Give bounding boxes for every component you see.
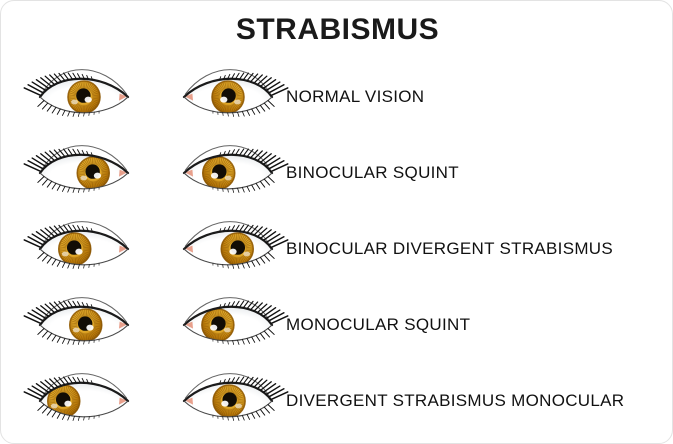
condition-label-normal-vision: NORMAL VISION	[286, 87, 424, 107]
eye-right-divergent-strabismus-monocular	[173, 371, 283, 431]
condition-label-divergent-strabismus-monocular: DIVERGENT STRABISMUS MONOCULAR	[286, 391, 624, 411]
eye-left-divergent-strabismus-monocular	[29, 371, 139, 431]
eye-illustration	[173, 67, 283, 127]
condition-row-normal-vision: NORMAL VISION	[1, 59, 673, 135]
page-title: STRABISMUS	[1, 13, 673, 47]
eye-illustration	[29, 143, 139, 203]
condition-list: NORMAL VISIONBINOCULAR SQUINTBINOCULAR D…	[1, 59, 673, 439]
condition-row-binocular-squint: BINOCULAR SQUINT	[1, 135, 673, 211]
eye-illustration	[173, 143, 283, 203]
condition-label-binocular-divergent-strabismus: BINOCULAR DIVERGENT STRABISMUS	[286, 239, 613, 259]
eye-pair-divergent-strabismus-monocular	[1, 363, 286, 439]
eye-right-binocular-divergent-strabismus	[173, 219, 283, 279]
eye-left-binocular-divergent-strabismus	[29, 219, 139, 279]
eye-illustration	[173, 295, 283, 355]
eye-pair-normal-vision	[1, 59, 286, 135]
eye-right-binocular-squint	[173, 143, 283, 203]
eye-pair-binocular-squint	[1, 135, 286, 211]
condition-row-binocular-divergent-strabismus: BINOCULAR DIVERGENT STRABISMUS	[1, 211, 673, 287]
eye-illustration	[173, 219, 283, 279]
eye-right-monocular-squint	[173, 295, 283, 355]
eye-right-normal-vision	[173, 67, 283, 127]
eye-pair-binocular-divergent-strabismus	[1, 211, 286, 287]
eye-illustration	[29, 295, 139, 355]
strabismus-infographic-card: STRABISMUS NORMAL VISIONBINOCULAR SQUINT…	[0, 0, 673, 444]
eye-illustration	[29, 219, 139, 279]
condition-label-binocular-squint: BINOCULAR SQUINT	[286, 163, 459, 183]
eye-illustration	[29, 67, 139, 127]
eye-left-binocular-squint	[29, 143, 139, 203]
condition-row-divergent-strabismus-monocular: DIVERGENT STRABISMUS MONOCULAR	[1, 363, 673, 439]
eye-illustration	[173, 371, 283, 431]
eye-illustration	[29, 371, 139, 431]
eye-left-normal-vision	[29, 67, 139, 127]
eye-pair-monocular-squint	[1, 287, 286, 363]
condition-row-monocular-squint: MONOCULAR SQUINT	[1, 287, 673, 363]
eye-left-monocular-squint	[29, 295, 139, 355]
condition-label-monocular-squint: MONOCULAR SQUINT	[286, 315, 470, 335]
